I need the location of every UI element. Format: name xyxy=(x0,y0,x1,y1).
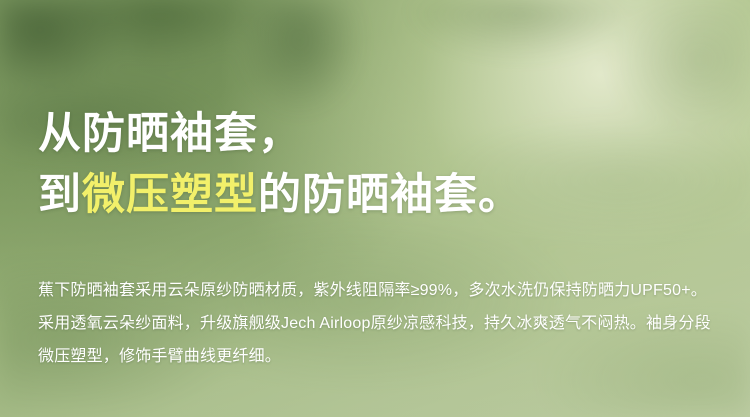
product-banner: 从防晒袖套， 到微压塑型的防晒袖套。 蕉下防晒袖套采用云朵原纱防晒材质，紫外线阻… xyxy=(0,0,750,417)
headline-accent-text: 微压塑型 xyxy=(82,171,258,219)
headline-line-2-suffix: 的防晒袖套。 xyxy=(258,171,522,219)
description-text: 蕉下防晒袖套采用云朵原纱防晒材质，紫外线阻隔率≥99%，多次水洗仍保持防晒力UP… xyxy=(38,275,714,373)
headline-line-2-prefix: 到 xyxy=(38,171,82,219)
banner-content: 从防晒袖套， 到微压塑型的防晒袖套。 蕉下防晒袖套采用云朵原纱防晒材质，紫外线阻… xyxy=(38,0,712,417)
headline: 从防晒袖套， 到微压塑型的防晒袖套。 xyxy=(38,104,522,226)
headline-line-1: 从防晒袖套， xyxy=(38,104,522,165)
headline-line-2: 到微压塑型的防晒袖套。 xyxy=(38,165,522,226)
description-paragraph: 蕉下防晒袖套采用云朵原纱防晒材质，紫外线阻隔率≥99%，多次水洗仍保持防晒力UP… xyxy=(38,275,714,373)
